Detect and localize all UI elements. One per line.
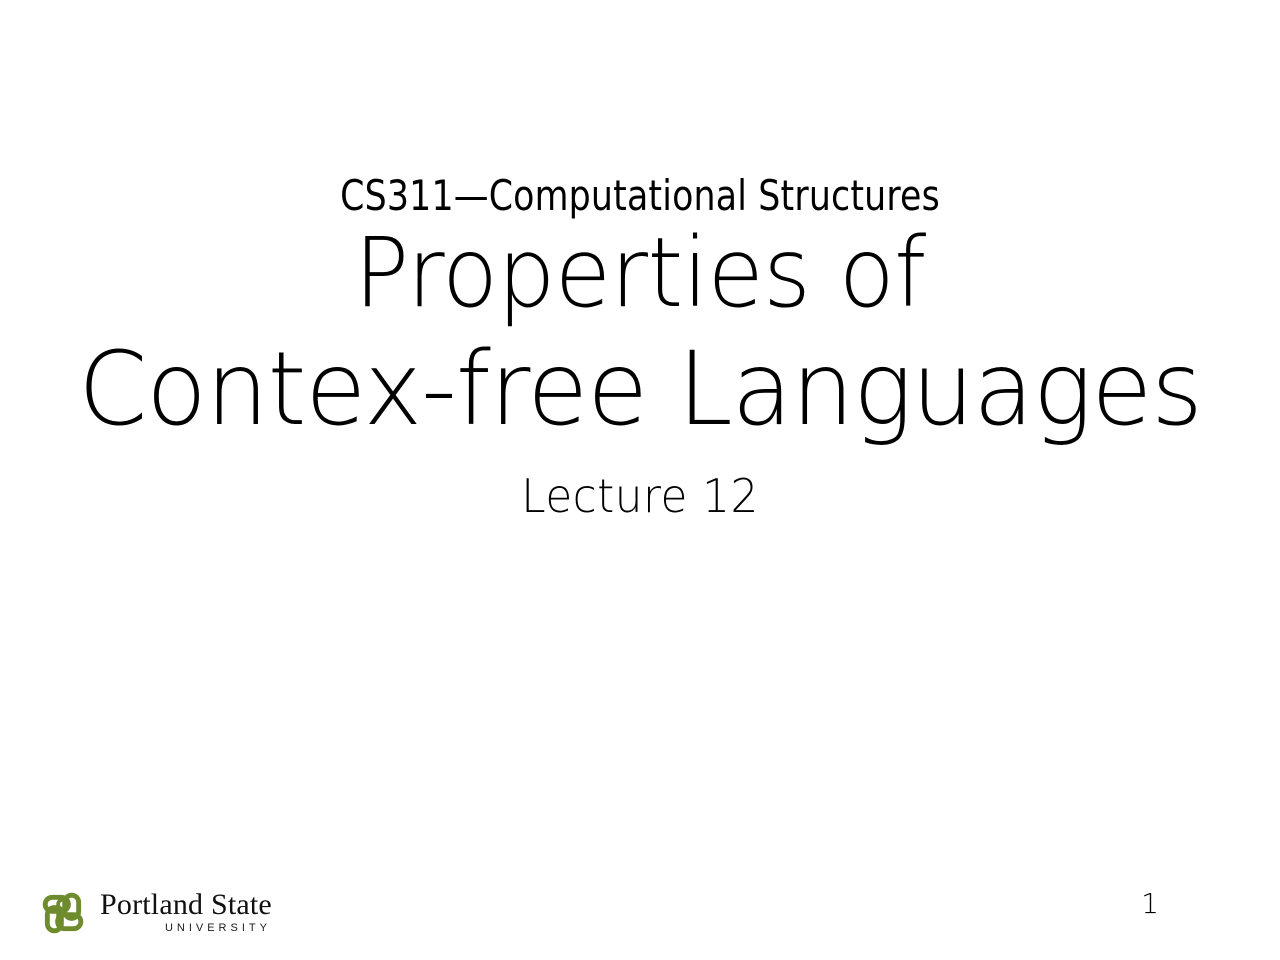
lecture-number-label: Lecture 12 [32,451,1248,519]
psu-organization-name: Portland State [100,890,272,921]
slide-canvas: CS311—Computational Structures Propertie… [0,0,1280,960]
psu-knot-icon [36,886,90,940]
slide-title-line-2: Contex-free Languages [19,330,1261,450]
page-number: 1 [1120,890,1180,918]
portland-state-logo: Portland State UNIVERSITY [36,886,272,940]
slide-title-line-1: Properties of [32,217,1248,330]
title-block: CS311—Computational Structures Propertie… [0,175,1280,519]
psu-wordmark: Portland State UNIVERSITY [100,890,272,937]
psu-university-label: UNIVERSITY [165,920,272,934]
course-subtitle: CS311—Computational Structures [51,175,1229,217]
